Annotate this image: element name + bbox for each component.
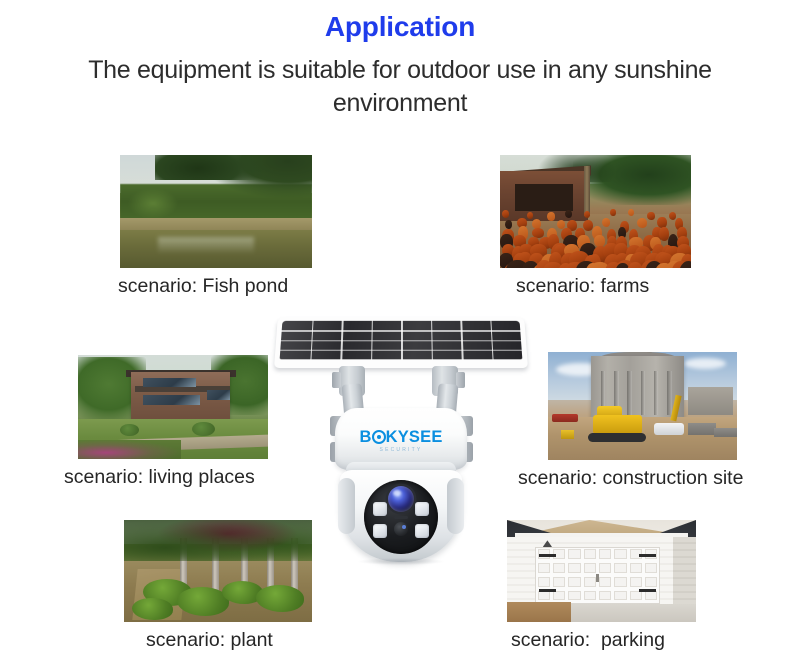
page-subtitle: The equipment is suitable for outdoor us… [70,54,730,120]
camera-upper-housing: BKYSEE SECURITY [335,408,467,470]
page-title: Application [0,11,800,43]
scenario-card-farms: scenario: farms [500,155,691,299]
scenario-card-parking: scenario: parking [507,520,696,653]
solar-panel [272,312,530,378]
led-light-bottom-right [415,524,429,538]
product-drop-shadow [358,558,444,565]
shell-side-left [338,478,355,534]
scenario-caption: scenario: Fish pond [118,273,312,299]
scenario-card-construction-site: scenario: construction site [548,352,737,491]
brand-logo-text-part2: KYSEE [386,428,443,446]
ir-sensor-icon [394,522,408,536]
aperture-icon [372,430,386,444]
brand-logo-text-part1: B [359,428,371,446]
scenario-caption: scenario: parking [511,627,696,653]
led-light-top-right [415,502,429,516]
scenario-image-living-places [78,355,268,459]
scenario-caption: scenario: farms [516,273,691,299]
scenario-image-construction-site [548,352,737,460]
led-light-top-left [373,502,387,516]
scenario-caption: scenario: plant [146,627,312,653]
brand-tagline: SECURITY [335,447,467,453]
solar-camera-product: BKYSEE SECURITY [272,312,530,562]
scenario-caption: scenario: living places [64,464,268,490]
scenario-image-farms [500,155,691,268]
scenario-caption: scenario: construction site [518,465,737,491]
lens-faceplate [364,480,438,554]
application-slide: Application The equipment is suitable fo… [0,0,800,671]
scenario-image-fish-pond [120,155,312,268]
camera-lens [388,486,414,512]
scenario-card-fish-pond: scenario: Fish pond [120,155,312,299]
ptz-camera-body [340,470,462,562]
microphone-slit [394,516,408,519]
brand-logo: BKYSEE [335,428,467,447]
led-light-bottom-left [373,524,387,538]
scenario-card-living-places: scenario: living places [78,355,268,490]
scenario-image-parking [507,520,696,622]
shell-side-right [447,478,464,534]
